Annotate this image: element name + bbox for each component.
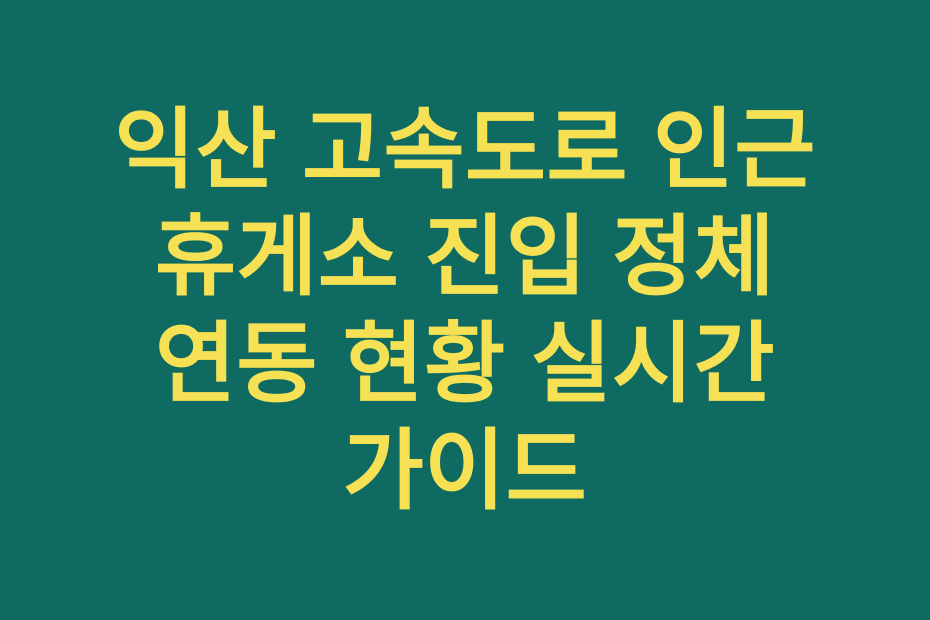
page-title: 익산 고속도로 인근 휴게소 진입 정체 연동 현황 실시간 가이드: [85, 96, 845, 524]
poster-canvas: 익산 고속도로 인근 휴게소 진입 정체 연동 현황 실시간 가이드: [0, 0, 930, 620]
